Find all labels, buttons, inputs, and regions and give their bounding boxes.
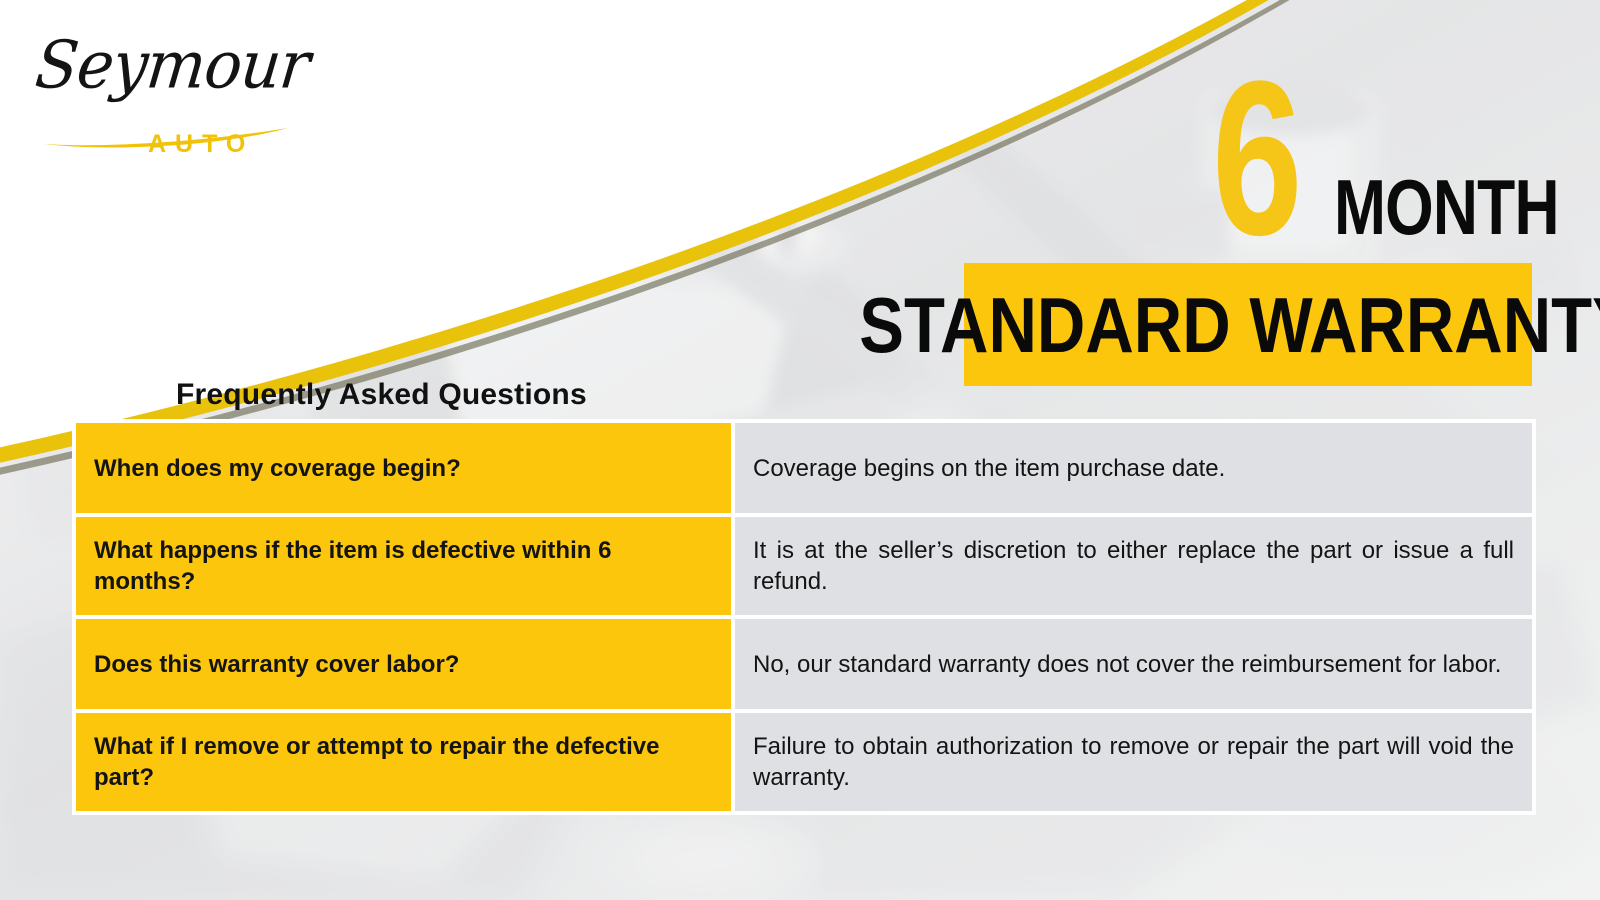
table-row: What happens if the item is defective wi… (74, 515, 1534, 617)
faq-answer: Failure to obtain authorization to remov… (733, 711, 1534, 813)
table-row: When does my coverage begin? Coverage be… (74, 421, 1534, 515)
faq-table: When does my coverage begin? Coverage be… (74, 421, 1534, 813)
table-row: Does this warranty cover labor? No, our … (74, 617, 1534, 711)
faq-question: What if I remove or attempt to repair th… (74, 711, 733, 813)
warranty-slide: Seymour AUTO 6 MONTH STANDARD WARRANTY F… (0, 0, 1600, 900)
seymour-auto-logo: Seymour AUTO (32, 22, 332, 182)
table-row: What if I remove or attempt to repair th… (74, 711, 1534, 813)
logo-script-text: Seymour (32, 26, 313, 103)
faq-question: What happens if the item is defective wi… (74, 515, 733, 617)
duration-number: 6 (1212, 58, 1300, 258)
faq-question: Does this warranty cover labor? (74, 617, 733, 711)
duration-unit: MONTH (1334, 168, 1559, 246)
faq-answer: It is at the seller’s discretion to eith… (733, 515, 1534, 617)
faq-answer: Coverage begins on the item purchase dat… (733, 421, 1534, 515)
faq-question: When does my coverage begin? (74, 421, 733, 515)
standard-warranty-banner: STANDARD WARRANTY (964, 263, 1532, 386)
banner-title: STANDARD WARRANTY (859, 285, 1600, 365)
logo-auto-text: AUTO (148, 130, 254, 159)
page-title: Frequently Asked Questions (176, 378, 587, 412)
faq-answer: No, our standard warranty does not cover… (733, 617, 1534, 711)
